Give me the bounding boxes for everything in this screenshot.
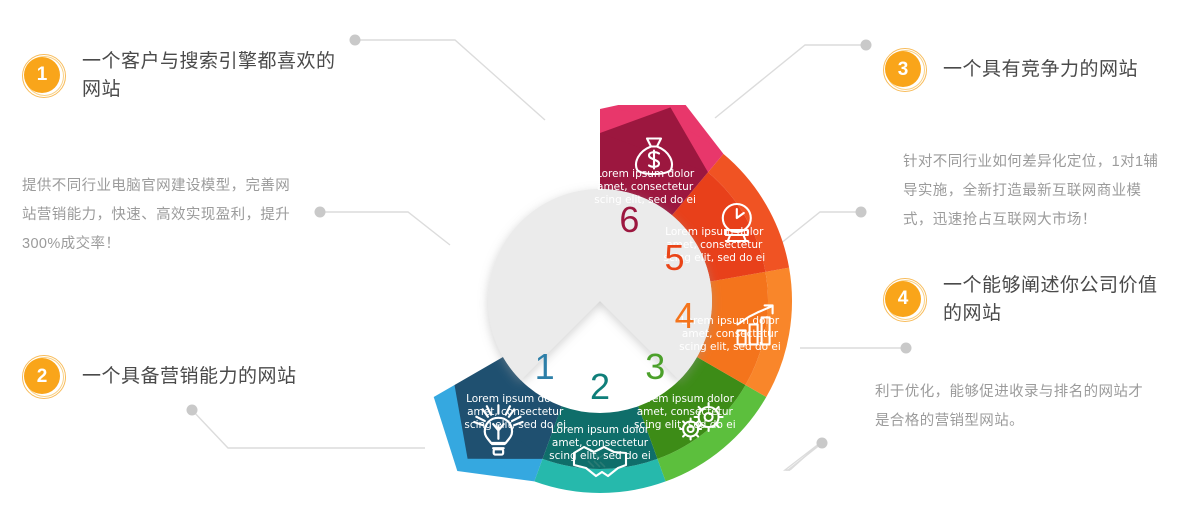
callout-4-body: 利于优化，能够促进收录与排名的网站才是合格的营销型网站。 (875, 378, 1145, 436)
callout-1[interactable]: 1 一个客户与搜索引擎都喜欢的网站 (22, 48, 352, 103)
center-number-5: 5 (664, 237, 684, 278)
connector-dot-3b (856, 207, 867, 218)
callout-2-title: 一个具备营销能力的网站 (82, 363, 297, 391)
badge-number-1: 1 (24, 57, 60, 93)
callout-3-body: 针对不同行业如何差异化定位，1对1辅导实施，全新打造最新互联网商业模式，迅速抢占… (903, 148, 1171, 235)
badge-number-3: 3 (885, 51, 921, 87)
center-number-6: 6 (619, 199, 639, 240)
infographic-canvas: 1 一个客户与搜索引擎都喜欢的网站 提供不同行业电脑官网建设模型，完善网站营销能… (0, 0, 1200, 520)
badge-number-2: 2 (24, 358, 60, 394)
connector-dot-3 (861, 40, 872, 51)
badge-number-4: 4 (885, 281, 921, 317)
center-number-1: 1 (535, 346, 555, 387)
center-number-4: 4 (675, 295, 695, 336)
connector-dot-4 (901, 343, 912, 354)
callout-1-head: 1 一个客户与搜索引擎都喜欢的网站 (22, 48, 352, 103)
center-number-3: 3 (645, 346, 665, 387)
callout-3-title: 一个具有竞争力的网站 (943, 56, 1138, 84)
callout-4[interactable]: 4 一个能够阐述你公司价值的网站 (883, 272, 1173, 327)
callout-1-title: 一个客户与搜索引擎都喜欢的网站 (82, 48, 352, 103)
badge-4: 4 (883, 278, 927, 322)
callout-4-title: 一个能够阐述你公司价值的网站 (943, 272, 1173, 327)
connector-dot-2b (187, 405, 198, 416)
callout-3-head: 3 一个具有竞争力的网站 (883, 48, 1193, 92)
center-number-2: 2 (590, 366, 610, 407)
callout-4-head: 4 一个能够阐述你公司价值的网站 (883, 272, 1173, 327)
connector-dot-2 (315, 207, 326, 218)
badge-2: 2 (22, 355, 66, 399)
segment-3-label: Lorem ipsum doloramet, consecteturscing … (634, 393, 736, 431)
connector-dot-1 (350, 35, 361, 46)
callout-1-body: 提供不同行业电脑官网建设模型，完善网站营销能力，快速、高效实现盈利，提升300%… (22, 172, 302, 259)
callout-2-head: 2 一个具备营销能力的网站 (22, 355, 352, 399)
segmented-arc-wheel: Lorem ipsum doloramet, consecteturscing … (355, 105, 845, 505)
callout-3[interactable]: 3 一个具有竞争力的网站 (883, 48, 1193, 92)
badge-1: 1 (22, 54, 66, 98)
callout-2[interactable]: 2 一个具备营销能力的网站 (22, 355, 352, 399)
segment-6-label: Lorem ipsum doloramet, consecteturscing … (594, 168, 696, 206)
badge-3: 3 (883, 48, 927, 92)
